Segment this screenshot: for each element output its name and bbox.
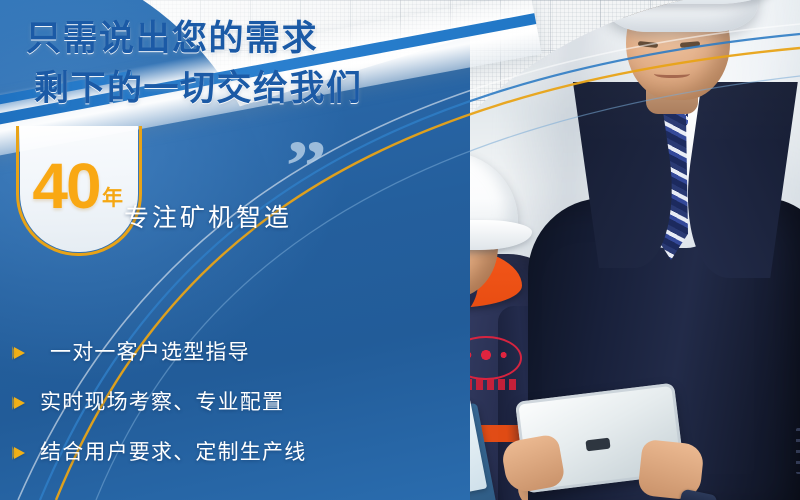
list-item-label: 结合用户要求、定制生产线: [40, 441, 306, 465]
suited-engineer-mouth: [654, 68, 690, 78]
headline-block: 只需说出您的需求 剩下的一切交给我们: [26, 14, 446, 114]
suit-cuff-buttons: [796, 428, 800, 474]
feature-list: 一对一客户选型指导 实时现场考察、专业配置 结合用户要求、定制生产线: [12, 328, 312, 478]
list-item-label: 实时现场考察、专业配置: [40, 391, 284, 415]
arrow-right-icon: [12, 346, 32, 360]
list-item-label: 一对一客户选型指导: [40, 341, 250, 365]
headline-line-1: 只需说出您的需求: [26, 14, 446, 64]
list-item: 结合用户要求、定制生产线: [12, 428, 312, 478]
arrow-right-icon: [12, 446, 32, 460]
promo-banner: 只需说出您的需求 剩下的一切交给我们 40 年 专注矿机智造 ” 一对一客户选型…: [0, 0, 800, 500]
badge-tagline: 专注矿机智造: [124, 203, 292, 233]
years-unit: 年: [102, 188, 123, 209]
list-item: 实时现场考察、专业配置: [12, 378, 312, 428]
arrow-right-icon: [12, 396, 32, 410]
list-item: 一对一客户选型指导: [12, 328, 312, 378]
headline-line-2: 剩下的一切交给我们: [26, 64, 446, 114]
suited-engineer: [528, 88, 800, 500]
years-badge: 40 年: [16, 126, 142, 256]
years-number: 40: [18, 154, 114, 218]
white-hard-hat-icon-2: [604, 0, 758, 32]
quote-mark-icon: ”: [286, 138, 323, 194]
